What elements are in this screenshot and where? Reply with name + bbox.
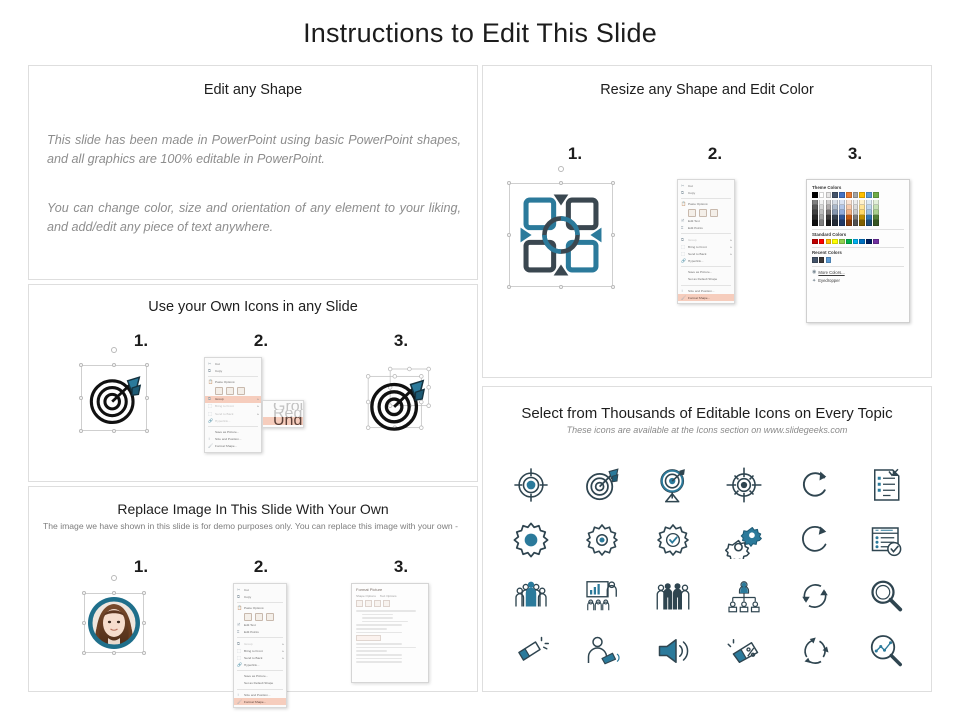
magnifier-icon[interactable]: [868, 578, 904, 614]
context-menu-item-label: Group: [273, 403, 303, 410]
submenu-arrow-icon: ▸: [279, 656, 284, 660]
context-menu-item[interactable]: ✂Cut: [678, 182, 734, 189]
icon-cell[interactable]: [708, 513, 779, 569]
context-menu-item[interactable]: 🔗Hyperlink...: [678, 258, 734, 265]
scissors-icon: ✂: [237, 588, 244, 592]
context-menu-item[interactable]: ↕Size and Position...: [234, 691, 286, 698]
color-swatch[interactable]: [839, 239, 845, 245]
resize-handle-e[interactable]: [145, 396, 150, 401]
icon-cell[interactable]: [566, 568, 637, 624]
color-swatch-column[interactable]: [832, 200, 838, 226]
resize-handle-e[interactable]: [611, 233, 616, 238]
context-menu-item[interactable]: Save as Picture...: [678, 269, 734, 276]
panel-replace-image: Replace Image In This Slide With Your Ow…: [28, 486, 478, 692]
more-colors-label: More Colors...: [818, 270, 844, 275]
icon-cell[interactable]: [850, 513, 921, 569]
checklist-approved-icon[interactable]: [868, 522, 904, 558]
standard-colors-row[interactable]: [812, 239, 904, 245]
color-swatch-column[interactable]: [846, 200, 852, 226]
color-swatch[interactable]: [819, 257, 825, 263]
format-pane-line: [356, 654, 402, 656]
context-menu-item-label: Paste Options:: [688, 202, 727, 206]
rotation-handle[interactable]: [111, 347, 117, 353]
context-menu-item-label: Group: [688, 238, 727, 242]
edit-points-icon: ⌗: [237, 630, 244, 634]
context-menu-item-label: Bring to Front: [215, 404, 254, 408]
divider: [812, 247, 904, 248]
color-swatch[interactable]: [812, 239, 818, 245]
color-swatch[interactable]: [846, 239, 852, 245]
context-menu-item-label: Group: [244, 642, 279, 646]
edit-text-icon: 🖹: [681, 219, 688, 223]
icon-cell[interactable]: [708, 457, 779, 513]
icon-cell[interactable]: [495, 624, 566, 680]
dartboard-arrow-icon: [367, 370, 429, 432]
eyedropper-item[interactable]: ✦ Eyedropper: [812, 278, 904, 284]
icon-cell[interactable]: [637, 457, 708, 513]
fill-icon[interactable]: [356, 600, 363, 607]
icon-cell[interactable]: [637, 568, 708, 624]
icon-cell[interactable]: [779, 513, 850, 569]
copy-icon: ⧉: [681, 191, 688, 195]
context-menu-item-label: Edit Text: [244, 623, 279, 627]
team-people-icon[interactable]: [513, 578, 549, 614]
format-pane-line: [362, 617, 393, 619]
context-menu-item-label: Edit Points: [688, 226, 727, 230]
color-swatch[interactable]: [819, 239, 825, 245]
eyedropper-label: Eyedropper: [818, 278, 840, 283]
paste-option-icon[interactable]: [710, 209, 718, 217]
context-menu-item-label: Set as Default Shape: [244, 681, 279, 685]
size-position-icon: ↕: [208, 437, 215, 441]
context-menu-item[interactable]: ✂Cut: [234, 586, 286, 593]
format-pane-line: [362, 621, 408, 623]
resize-step-1-number: 1.: [555, 144, 595, 164]
crosshair-target-icon[interactable]: [725, 466, 763, 504]
group-icon: ⧉: [237, 642, 244, 646]
context-menu-item[interactable]: 📋Paste Options:: [205, 378, 261, 385]
format-pane-line: [362, 614, 393, 616]
paste-options-row[interactable]: [234, 612, 286, 622]
context-menu-item[interactable]: ⧉Group▸: [205, 396, 261, 403]
replace-image-subtitle: The image we have shown in this slide is…: [43, 520, 465, 533]
scissors-icon: ✂: [681, 184, 688, 188]
icon-cell[interactable]: [779, 568, 850, 624]
resize-handle-e[interactable]: [142, 621, 147, 626]
color-swatch[interactable]: [873, 239, 879, 245]
color-swatch-column[interactable]: [826, 200, 832, 226]
context-menu-item[interactable]: ✂Cut: [205, 360, 261, 367]
context-menu-item[interactable]: ⧉Copy: [234, 593, 286, 600]
resize-handle-se[interactable]: [611, 285, 616, 290]
team-hierarchy-icon[interactable]: [726, 578, 762, 614]
own-icons-step-2-number: 2.: [241, 331, 281, 351]
context-menu-item[interactable]: 🖹Edit Text: [678, 218, 734, 225]
group-people-icon[interactable]: [655, 578, 691, 614]
context-menu-item[interactable]: ↕Size and Position...: [678, 287, 734, 294]
paste-option-icon[interactable]: [226, 387, 234, 395]
group-icon: ⧉: [681, 238, 688, 242]
paste-icon: 📋: [237, 606, 244, 610]
resize-handle-s[interactable]: [112, 429, 117, 434]
panel-title-edit-shape: Edit any Shape: [29, 82, 477, 98]
color-swatch[interactable]: [826, 192, 832, 198]
format-pane-title: Format Picture: [356, 587, 424, 592]
submenu-arrow-icon: ▸: [727, 245, 732, 249]
context-menu-item-label: Hyperlink...: [215, 419, 254, 423]
recent-colors-row[interactable]: [812, 257, 904, 263]
context-menu-item[interactable]: 🖌Format Shape...: [205, 443, 261, 450]
page-title: Instructions to Edit This Slide: [0, 18, 960, 49]
theme-colors-row[interactable]: [812, 192, 904, 198]
format-pane-color-swatch[interactable]: [356, 635, 381, 641]
icon-cell[interactable]: [566, 513, 637, 569]
context-menu-item[interactable]: Save as Picture...: [205, 428, 261, 435]
own-icons-step-3-number: 3.: [381, 331, 421, 351]
tab-shape-options[interactable]: Shape Options: [356, 594, 376, 598]
slide-canvas: Instructions to Edit This Slide Edit any…: [0, 0, 960, 720]
context-menu-item-label: Cut: [244, 588, 279, 592]
context-menu-item[interactable]: 📋Paste Options:: [678, 200, 734, 207]
effects-icon[interactable]: [365, 600, 372, 607]
resize-handle-s[interactable]: [112, 651, 117, 656]
color-swatch[interactable]: [826, 257, 832, 263]
gear-filled-icon[interactable]: [512, 521, 550, 559]
context-menu-item[interactable]: Set as Default Shape: [678, 276, 734, 283]
context-menu-item-label: Bring to Front: [244, 649, 279, 653]
format-pane-tabs[interactable]: Shape Options Text Options: [356, 594, 424, 598]
color-swatch[interactable]: [812, 192, 818, 198]
color-swatch[interactable]: [853, 239, 859, 245]
dartboard-arrow-icon[interactable]: [583, 466, 621, 504]
context-menu-item-label: Group: [215, 397, 254, 401]
divider: [237, 602, 283, 603]
color-swatch[interactable]: [873, 220, 879, 225]
color-swatch[interactable]: [832, 220, 838, 225]
color-swatch[interactable]: [819, 220, 825, 225]
size-icon[interactable]: [374, 600, 381, 607]
divider: [208, 426, 258, 427]
icon-cell[interactable]: [708, 624, 779, 680]
submenu-arrow-icon: ▸: [727, 238, 732, 242]
copy-icon: ⧉: [237, 595, 244, 599]
format-pane-line: [356, 647, 416, 649]
context-menu-item-label: Copy: [688, 191, 727, 195]
color-picker-popup[interactable]: Theme Colors Standard Colors Recent Colo…: [806, 179, 910, 323]
color-swatch[interactable]: [826, 220, 832, 225]
replace-image-step-3-number: 3.: [381, 557, 421, 577]
panel-title-icons: Select from Thousands of Editable Icons …: [483, 405, 931, 422]
context-menu-item[interactable]: ⬚Bring to Front▸: [234, 647, 286, 654]
resize-handle-se[interactable]: [142, 651, 147, 656]
divider: [237, 689, 283, 690]
context-menu-items: ✂Cut⧉Copy📋Paste Options:⧉Group▸⬚Bring to…: [205, 360, 261, 450]
color-swatch[interactable]: [812, 257, 818, 263]
context-menu-item[interactable]: Group: [263, 403, 303, 410]
format-pane-line: [356, 650, 387, 652]
context-menu-item[interactable]: ⬚Send to Back▸: [234, 654, 286, 661]
bring-front-icon: ⬚: [208, 404, 215, 408]
color-swatch-column[interactable]: [873, 200, 879, 226]
checklist-document-icon[interactable]: [868, 467, 904, 503]
context-menu-item[interactable]: Regroup: [263, 410, 303, 417]
context-menu-item[interactable]: ⧉Copy: [205, 367, 261, 374]
context-menu-item[interactable]: ⬚Bring to Front▸: [205, 403, 261, 410]
panel-use-own-icons: Use your Own Icons in any Slide 1. 2. 3.…: [28, 284, 478, 482]
megaphone-percent-icon[interactable]: [726, 633, 762, 669]
color-swatch[interactable]: [812, 220, 818, 225]
edit-shape-paragraph-2: You can change color, size and orientati…: [47, 199, 461, 237]
format-shape-icon: 🖌: [681, 296, 688, 300]
panel-title-own-icons: Use your Own Icons in any Slide: [29, 299, 477, 315]
paste-option-icon[interactable]: [255, 613, 263, 621]
context-menu-item[interactable]: ⬚Send to Back▸: [678, 250, 734, 257]
context-menu-item-label: Ungroup: [273, 417, 303, 424]
target-stand-icon[interactable]: [654, 466, 692, 504]
context-menu-group[interactable]: ✂Cut⧉Copy📋Paste Options:⧉Group▸⬚Bring to…: [204, 357, 262, 453]
gear-check-icon[interactable]: [655, 522, 691, 558]
divider: [681, 285, 731, 286]
context-menu-item[interactable]: ⧉Group▸: [234, 640, 286, 647]
dartboard-arrow-icon: [85, 369, 143, 427]
send-back-icon: ⬚: [208, 412, 215, 416]
icon-cell[interactable]: [850, 568, 921, 624]
icon-cell[interactable]: [708, 568, 779, 624]
context-menu-item[interactable]: ⌗Edit Points: [678, 225, 734, 232]
group-icon: ⧉: [208, 397, 215, 401]
color-swatch-column[interactable]: [859, 200, 865, 226]
gear-outline-icon[interactable]: [584, 522, 620, 558]
context-menu-item[interactable]: Ungroup: [263, 417, 303, 424]
rotation-handle[interactable]: [111, 575, 117, 581]
context-menu-item-label: Size and Position...: [215, 437, 254, 441]
format-pane-line: [356, 632, 402, 634]
submenu-arrow-icon: ▸: [254, 397, 259, 401]
color-swatch[interactable]: [832, 192, 838, 198]
color-swatch[interactable]: [866, 220, 872, 225]
context-menu-item-label: Regroup: [273, 410, 303, 417]
context-menu-item-label: Format Shape...: [688, 296, 727, 300]
format-pane-line: [356, 628, 387, 630]
panel-subtitle-icons: These icons are available at the Icons s…: [483, 425, 931, 435]
palette-icon: ◉: [812, 269, 816, 275]
presentation-audience-icon[interactable]: [584, 578, 620, 614]
refresh-arrow-icon[interactable]: [797, 467, 833, 503]
color-swatch[interactable]: [819, 192, 825, 198]
bring-front-icon: ⬚: [237, 649, 244, 653]
format-pane-line: [356, 661, 402, 663]
context-menu-item-label: Cut: [215, 362, 254, 366]
size-position-icon: ↕: [681, 289, 688, 293]
icon-cell[interactable]: [637, 624, 708, 680]
megaphone-icon[interactable]: [513, 633, 549, 669]
context-menu-picture[interactable]: ✂Cut⧉Copy📋Paste Options:🖹Edit Text⌗Edit …: [233, 583, 287, 708]
context-menu-items: ✂Cut⧉Copy📋Paste Options:🖹Edit Text⌗Edit …: [678, 182, 734, 301]
icon-cell[interactable]: [566, 624, 637, 680]
context-menu-item-label: Format Shape...: [215, 444, 254, 448]
context-menu-item[interactable]: ⧉Copy: [678, 189, 734, 196]
replace-image-step-1-number: 1.: [121, 557, 161, 577]
more-colors-item[interactable]: ◉ More Colors...: [812, 269, 904, 275]
color-swatch-column[interactable]: [819, 200, 825, 226]
icon-cell[interactable]: [637, 513, 708, 569]
cycle-squares-shape: [515, 189, 607, 281]
picture-icon[interactable]: [383, 600, 390, 607]
context-menu-item-label: Bring to Front: [688, 245, 727, 249]
format-pane-line: [356, 643, 402, 645]
context-menu-item-label: Send to Back: [688, 252, 727, 256]
icon-cell[interactable]: [566, 457, 637, 513]
resize-handle-ne[interactable]: [145, 363, 150, 368]
icon-cell[interactable]: [850, 457, 921, 513]
context-menu-item-label: Copy: [215, 369, 254, 373]
context-menu-item-label: Size and Position...: [244, 693, 279, 697]
context-menu-item[interactable]: Save as Picture...: [234, 673, 286, 680]
context-submenu-group[interactable]: GroupRegroupUngroup: [262, 400, 304, 428]
paste-option-icon[interactable]: [215, 387, 223, 395]
speaker-icon[interactable]: [655, 633, 691, 669]
context-menu-item[interactable]: ⬚Send to Back▸: [205, 410, 261, 417]
context-menu-item-label: Cut: [688, 184, 727, 188]
resize-step-2-number: 2.: [695, 144, 735, 164]
icon-cell[interactable]: [779, 457, 850, 513]
format-shape-icon: 🖌: [237, 700, 244, 704]
context-menu-item[interactable]: 🔗Hyperlink...: [205, 417, 261, 424]
copy-icon: ⧉: [208, 369, 215, 373]
color-swatch[interactable]: [859, 239, 865, 245]
context-menu-item[interactable]: 🖌Format Shape...: [678, 294, 734, 301]
target-crosshair-icon[interactable]: [512, 466, 550, 504]
resize-handle-sw[interactable]: [507, 285, 512, 290]
paste-option-icon[interactable]: [699, 209, 707, 217]
context-menu-item[interactable]: ⬚Bring to Front▸: [678, 243, 734, 250]
paste-option-icon[interactable]: [688, 209, 696, 217]
color-swatch-column[interactable]: [853, 200, 859, 226]
theme-colors-tints[interactable]: [812, 200, 904, 226]
context-menu-item-label: Set as Default Shape: [688, 277, 727, 281]
context-menu-item-label: Copy: [244, 595, 279, 599]
resize-handle-ne[interactable]: [611, 181, 616, 186]
gears-pair-icon[interactable]: [725, 521, 763, 559]
color-swatch[interactable]: [846, 220, 852, 225]
hyperlink-icon: 🔗: [681, 259, 688, 263]
context-menu-item[interactable]: 🖌Format Shape...: [234, 698, 286, 705]
circular-arrow-icon[interactable]: [797, 522, 833, 558]
edit-text-icon: 🖹: [237, 623, 244, 627]
resize-handle-sw[interactable]: [82, 651, 87, 656]
color-swatch[interactable]: [866, 239, 872, 245]
context-menu-shape[interactable]: ✂Cut⧉Copy📋Paste Options:🖹Edit Text⌗Edit …: [677, 179, 735, 304]
format-pane-line: [356, 624, 402, 626]
color-swatch[interactable]: [832, 239, 838, 245]
color-swatch[interactable]: [846, 192, 852, 198]
paste-options-row[interactable]: [205, 386, 261, 396]
format-pane-icon-row[interactable]: [356, 600, 424, 607]
color-swatch-column[interactable]: [866, 200, 872, 226]
icon-cell[interactable]: [495, 513, 566, 569]
divider: [812, 229, 904, 230]
color-swatch-column[interactable]: [812, 200, 818, 226]
icon-cell[interactable]: [495, 457, 566, 513]
size-position-icon: ↕: [237, 693, 244, 697]
color-swatch[interactable]: [853, 220, 859, 225]
cycle-triangle-arrows-icon[interactable]: [797, 633, 833, 669]
paste-options-row[interactable]: [678, 208, 734, 218]
own-icons-step-1-number: 1.: [121, 331, 161, 351]
edit-points-icon: ⌗: [681, 226, 688, 230]
rotation-handle[interactable]: [558, 166, 564, 172]
tab-text-options[interactable]: Text Options: [380, 594, 397, 598]
divider: [681, 233, 731, 234]
paste-option-icon[interactable]: [266, 613, 274, 621]
hyperlink-icon: 🔗: [208, 419, 215, 423]
color-swatch[interactable]: [859, 220, 865, 225]
context-menu-item-label: Hyperlink...: [688, 259, 727, 263]
color-swatch-column[interactable]: [839, 200, 845, 226]
color-swatch[interactable]: [839, 220, 845, 225]
scissors-icon: ✂: [208, 362, 215, 366]
paste-icon: 📋: [208, 380, 215, 384]
format-picture-pane[interactable]: Format Picture Shape Options Text Option…: [351, 583, 429, 683]
paste-option-icon[interactable]: [244, 613, 252, 621]
icon-cell[interactable]: [495, 568, 566, 624]
divider: [681, 266, 731, 267]
send-back-icon: ⬚: [681, 252, 688, 256]
divider: [812, 266, 904, 267]
icon-cell[interactable]: [850, 624, 921, 680]
color-swatch[interactable]: [873, 192, 879, 198]
submenu-arrow-icon: ▸: [727, 252, 732, 256]
resize-handle-se[interactable]: [145, 429, 150, 434]
color-swatch[interactable]: [859, 192, 865, 198]
resize-handle-ne[interactable]: [142, 591, 147, 596]
color-swatch[interactable]: [839, 192, 845, 198]
edit-shape-paragraph-1: This slide has been made in PowerPoint u…: [47, 131, 461, 169]
context-menu-item[interactable]: 🔗Hyperlink...: [234, 662, 286, 669]
person-megaphone-icon[interactable]: [584, 633, 620, 669]
context-menu-item-label: Save as Picture...: [215, 430, 254, 434]
cycle-arrows-icon[interactable]: [797, 578, 833, 614]
avatar-portrait: [86, 595, 142, 651]
context-menu-item[interactable]: ↕Size and Position...: [205, 436, 261, 443]
paste-option-icon[interactable]: [237, 387, 245, 395]
context-menu-item-label: Save as Picture...: [244, 674, 279, 678]
resize-handle-sw[interactable]: [79, 429, 84, 434]
theme-colors-label: Theme Colors: [812, 185, 904, 190]
context-menu-item-label: Size and Position...: [688, 289, 727, 293]
magnifier-chart-icon[interactable]: [868, 633, 904, 669]
format-pane-line: [356, 658, 402, 660]
context-menu-item[interactable]: ⌗Edit Points: [234, 629, 286, 636]
format-shape-icon: 🖌: [208, 444, 215, 448]
resize-handle-s[interactable]: [559, 285, 564, 290]
divider: [208, 376, 258, 377]
context-menu-item-label: Send to Back: [244, 656, 279, 660]
resize-step-3-number: 3.: [835, 144, 875, 164]
color-swatch[interactable]: [866, 192, 872, 198]
context-menu-item[interactable]: Set as Default Shape: [234, 680, 286, 687]
color-swatch[interactable]: [826, 239, 832, 245]
context-menu-item-label: Save as Picture...: [688, 270, 727, 274]
send-back-icon: ⬚: [237, 656, 244, 660]
color-swatch[interactable]: [853, 192, 859, 198]
standard-colors-label: Standard Colors: [812, 232, 904, 237]
context-menu-item[interactable]: ⧉Group▸: [678, 236, 734, 243]
icon-cell[interactable]: [779, 624, 850, 680]
eyedropper-icon: ✦: [812, 278, 816, 284]
context-menu-item[interactable]: 📋Paste Options:: [234, 604, 286, 611]
context-menu-item[interactable]: 🖹Edit Text: [234, 622, 286, 629]
